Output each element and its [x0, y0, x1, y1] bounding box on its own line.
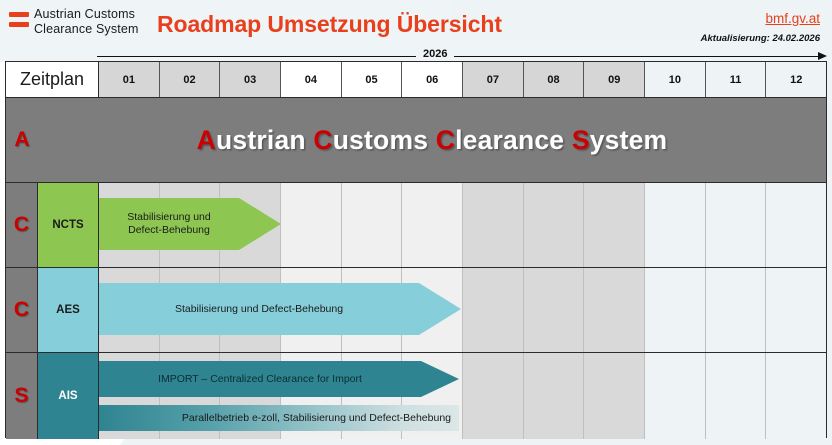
category-letter-c1: C: [6, 183, 38, 267]
bmf-link[interactable]: bmf.gv.at: [765, 11, 820, 26]
banner-rest-s: ystem: [590, 125, 668, 155]
month-cell-11[interactable]: 11: [706, 62, 767, 97]
page-header: Austrian Customs Clearance System Roadma…: [0, 0, 832, 44]
gantt-bar-aes-stabilisierung[interactable]: Stabilisierung und Defect-Behebung: [99, 283, 461, 335]
category-letter-c2: C: [6, 268, 38, 352]
row-ncts: C NCTS Stabilisierung und Defect-Behebun…: [6, 183, 826, 268]
banner-row: A Austrian Customs Clearance System: [6, 98, 826, 183]
gantt-bar-ais-import[interactable]: IMPORT – Centralized Clearance for Impor…: [99, 361, 459, 397]
austria-flag-bars-icon: [9, 10, 31, 32]
category-letter-s: S: [6, 353, 38, 439]
month-cell-09[interactable]: 09: [584, 62, 645, 97]
banner-cell: Austrian Customs Clearance System: [38, 98, 826, 182]
system-label-ncts: NCTS: [38, 183, 99, 267]
track-aes: Stabilisierung und Defect-Behebung: [99, 268, 826, 352]
gantt-bar-label: IMPORT – Centralized Clearance for Impor…: [158, 373, 362, 386]
month-cell-01[interactable]: 01: [99, 62, 160, 97]
arrow-head-icon: [419, 283, 461, 335]
axis-line: [97, 56, 820, 57]
system-label-aes: AES: [38, 268, 99, 352]
gantt-bar-body: Stabilisierung und Defect-Behebung: [99, 198, 239, 250]
month-cell-04[interactable]: 04: [281, 62, 342, 97]
month-cell-03[interactable]: 03: [220, 62, 281, 97]
track-ncts: Stabilisierung und Defect-Behebung: [99, 183, 826, 267]
roadmap-page: Austrian Customs Clearance System Roadma…: [0, 0, 832, 445]
month-cell-06[interactable]: 06: [402, 62, 463, 97]
zeitplan-label: Zeitplan: [6, 62, 99, 97]
gantt-bar-label: Stabilisierung und Defect-Behebung: [127, 211, 210, 237]
banner-rest-c2: learance: [455, 125, 564, 155]
arrow-head-icon: [421, 361, 459, 397]
gantt-bar-body: Stabilisierung und Defect-Behebung: [99, 283, 419, 335]
gantt-bar-ais-parallelbetrieb[interactable]: Parallelbetrieb e-zoll, Stabilisierung u…: [99, 405, 459, 431]
banner-rest-a: ustrian: [216, 125, 306, 155]
banner-cap-c2: C: [436, 125, 455, 155]
logo-text: Austrian Customs Clearance System: [34, 7, 139, 36]
timeline-axis: 2026: [0, 44, 832, 61]
axis-year-label: 2026: [416, 48, 454, 60]
gantt-bar-ncts-stabilisierung[interactable]: Stabilisierung und Defect-Behebung: [99, 198, 281, 250]
month-cell-08[interactable]: 08: [524, 62, 585, 97]
month-cell-10[interactable]: 10: [645, 62, 706, 97]
system-label-ais: AIS: [38, 353, 99, 439]
update-note: Aktualisierung: 24.02.2026: [701, 33, 820, 44]
gantt-bar-label: Parallelbetrieb e-zoll, Stabilisierung u…: [182, 412, 451, 425]
banner-rest-c1: ustoms: [333, 125, 428, 155]
banner-cap-c1: C: [313, 125, 332, 155]
month-cell-05[interactable]: 05: [342, 62, 403, 97]
month-cell-12[interactable]: 12: [766, 62, 826, 97]
system-label-ncts-text: NCTS: [52, 219, 83, 231]
gantt-bar-body: IMPORT – Centralized Clearance for Impor…: [99, 361, 421, 397]
page-title: Roadmap Umsetzung Übersicht: [157, 11, 502, 38]
system-label-ais-text: AIS: [58, 390, 77, 402]
row-ais: S AIS IMPORT – Centralized Clearance for…: [6, 353, 826, 439]
roadmap-grid: Zeitplan 01 02 03 04 05 06 07 08 09 10 1…: [5, 61, 827, 438]
banner-title: Austrian Customs Clearance System: [197, 125, 668, 156]
system-label-aes-text: AES: [56, 304, 80, 316]
arrow-head-icon: [239, 198, 281, 250]
arrow-right-icon: [818, 52, 827, 60]
month-header-row: Zeitplan 01 02 03 04 05 06 07 08 09 10 1…: [6, 62, 826, 98]
track-ais: IMPORT – Centralized Clearance for Impor…: [99, 353, 826, 439]
month-cell-02[interactable]: 02: [160, 62, 221, 97]
gantt-bar-label: Stabilisierung und Defect-Behebung: [175, 303, 343, 316]
month-cell-07[interactable]: 07: [463, 62, 524, 97]
category-letter-a: A: [6, 98, 38, 182]
banner-cap-s: S: [572, 125, 590, 155]
banner-cap-a: A: [197, 125, 216, 155]
row-aes: C AES Stabilisierung und Defect-Behebung: [6, 268, 826, 353]
